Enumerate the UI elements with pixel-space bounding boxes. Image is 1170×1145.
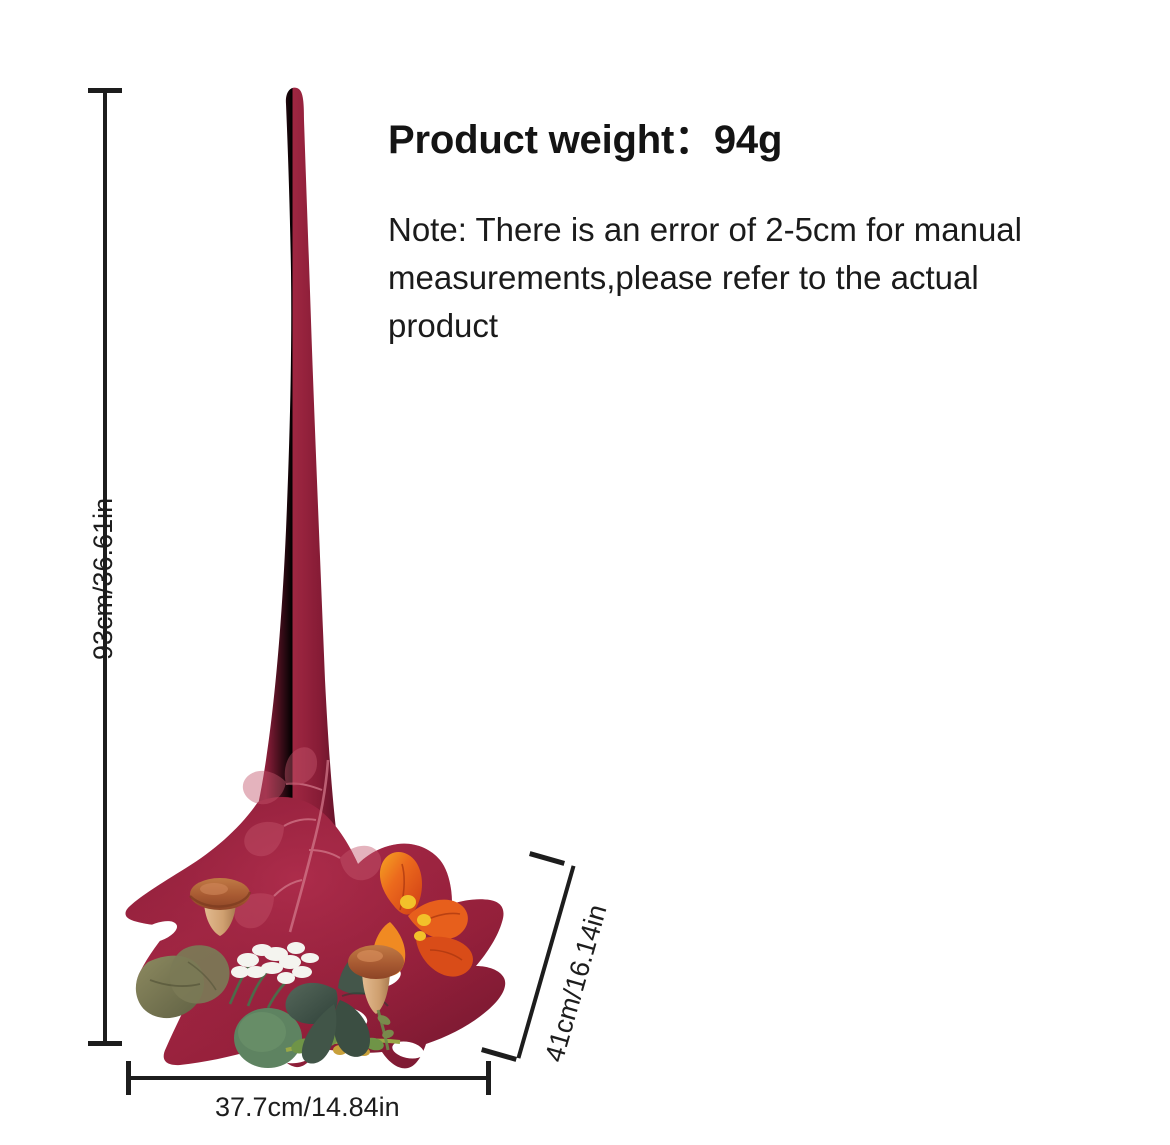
product-weight-label: Product weight： (388, 118, 714, 162)
hat-cone (245, 88, 340, 860)
brim-depth-dimension: 41cm/16.14in (484, 852, 704, 1082)
height-dimension-cap-top (88, 88, 122, 93)
height-dimension-label: 93cm/36.61in (88, 498, 119, 660)
product-weight-value: 94g (714, 118, 782, 162)
brim-depth-dimension-cap-top (529, 851, 565, 866)
width-dimension-line (128, 1076, 490, 1080)
measurement-note: Note: There is an error of 2-5cm for man… (388, 206, 1088, 350)
brim-depth-dimension-cap-bottom (481, 1047, 517, 1062)
width-dimension-label: 37.7cm/14.84in (215, 1092, 400, 1123)
width-dimension-cap-left (126, 1061, 131, 1095)
product-spec-image: 93cm/36.61in 37.7cm/14.84in 41cm/16.14in… (0, 0, 1170, 1145)
height-dimension-cap-bottom (88, 1041, 122, 1046)
brim-depth-dimension-label: 41cm/16.14in (539, 901, 613, 1065)
product-weight-line: Product weight：94g (388, 118, 1088, 162)
product-info-panel: Product weight：94g Note: There is an err… (388, 118, 1088, 350)
